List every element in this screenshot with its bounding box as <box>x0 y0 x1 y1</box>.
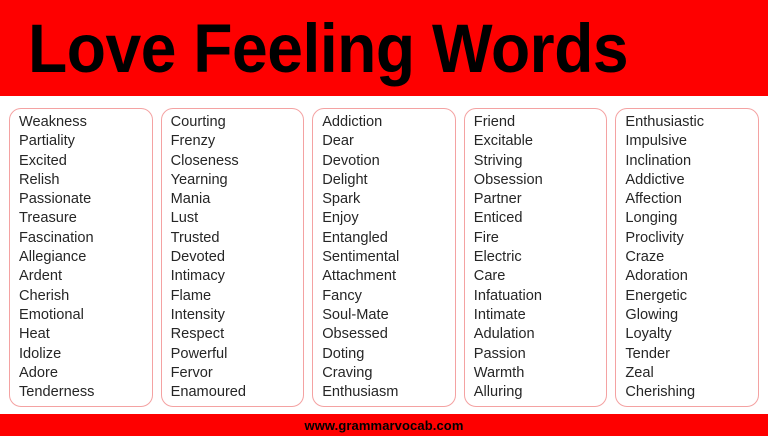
website-url[interactable]: www.grammarvocab.com <box>304 419 463 432</box>
list-item: Affection <box>625 190 758 209</box>
list-item: Fancy <box>322 287 455 306</box>
list-item: Devoted <box>171 248 304 267</box>
list-item: Energetic <box>625 287 758 306</box>
list-item: Courting <box>171 113 304 132</box>
list-item: Dear <box>322 132 455 151</box>
list-item: Passion <box>474 345 607 364</box>
list-item: Closeness <box>171 152 304 171</box>
list-item: Warmth <box>474 364 607 383</box>
list-item: Intimate <box>474 306 607 325</box>
list-item: Entangled <box>322 229 455 248</box>
list-item: Respect <box>171 325 304 344</box>
list-item: Inclination <box>625 152 758 171</box>
list-item: Glowing <box>625 306 758 325</box>
list-item: Enthusiasm <box>322 383 455 402</box>
list-item: Addiction <box>322 113 455 132</box>
list-item: Addictive <box>625 171 758 190</box>
list-item: Intimacy <box>171 267 304 286</box>
list-item: Intensity <box>171 306 304 325</box>
list-item: Striving <box>474 152 607 171</box>
list-item: Fire <box>474 229 607 248</box>
list-item: Fervor <box>171 364 304 383</box>
list-item: Tenderness <box>19 383 152 402</box>
list-item: Tender <box>625 345 758 364</box>
list-item: Treasure <box>19 209 152 228</box>
list-item: Passionate <box>19 190 152 209</box>
footer-band: www.grammarvocab.com <box>0 414 768 436</box>
list-item: Enamoured <box>171 383 304 402</box>
list-item: Devotion <box>322 152 455 171</box>
list-item: Electric <box>474 248 607 267</box>
page-title: Love Feeling Words <box>28 14 628 83</box>
list-item: Loyalty <box>625 325 758 344</box>
list-item: Enticed <box>474 209 607 228</box>
list-item: Enjoy <box>322 209 455 228</box>
word-column-5: Enthusiastic Impulsive Inclination Addic… <box>615 108 759 407</box>
list-item: Proclivity <box>625 229 758 248</box>
list-item: Longing <box>625 209 758 228</box>
list-item: Adoration <box>625 267 758 286</box>
list-item: Partiality <box>19 132 152 151</box>
list-item: Adulation <box>474 325 607 344</box>
list-item: Allegiance <box>19 248 152 267</box>
list-item: Heat <box>19 325 152 344</box>
list-item: Craze <box>625 248 758 267</box>
word-columns-area: Weakness Partiality Excited Relish Passi… <box>0 96 768 414</box>
list-item: Adore <box>19 364 152 383</box>
list-item: Delight <box>322 171 455 190</box>
word-column-1: Weakness Partiality Excited Relish Passi… <box>9 108 153 407</box>
list-item: Obsession <box>474 171 607 190</box>
list-item: Spark <box>322 190 455 209</box>
list-item: Mania <box>171 190 304 209</box>
list-item: Yearning <box>171 171 304 190</box>
list-item: Powerful <box>171 345 304 364</box>
list-item: Attachment <box>322 267 455 286</box>
list-item: Frenzy <box>171 132 304 151</box>
list-item: Cherish <box>19 287 152 306</box>
list-item: Emotional <box>19 306 152 325</box>
list-item: Doting <box>322 345 455 364</box>
list-item: Lust <box>171 209 304 228</box>
list-item: Enthusiastic <box>625 113 758 132</box>
list-item: Infatuation <box>474 287 607 306</box>
list-item: Zeal <box>625 364 758 383</box>
list-item: Ardent <box>19 267 152 286</box>
list-item: Fascination <box>19 229 152 248</box>
list-item: Excited <box>19 152 152 171</box>
list-item: Weakness <box>19 113 152 132</box>
list-item: Idolize <box>19 345 152 364</box>
list-item: Alluring <box>474 383 607 402</box>
list-item: Obsessed <box>322 325 455 344</box>
list-item: Relish <box>19 171 152 190</box>
list-item: Flame <box>171 287 304 306</box>
poster: Love Feeling Words Weakness Partiality E… <box>0 0 768 432</box>
list-item: Friend <box>474 113 607 132</box>
list-item: Soul-Mate <box>322 306 455 325</box>
list-item: Trusted <box>171 229 304 248</box>
word-column-2: Courting Frenzy Closeness Yearning Mania… <box>161 108 305 407</box>
word-column-3: Addiction Dear Devotion Delight Spark En… <box>312 108 456 407</box>
list-item: Excitable <box>474 132 607 151</box>
list-item: Sentimental <box>322 248 455 267</box>
list-item: Impulsive <box>625 132 758 151</box>
list-item: Craving <box>322 364 455 383</box>
word-column-4: Friend Excitable Striving Obsession Part… <box>464 108 608 407</box>
list-item: Partner <box>474 190 607 209</box>
list-item: Cherishing <box>625 383 758 402</box>
list-item: Care <box>474 267 607 286</box>
header-band: Love Feeling Words <box>0 0 768 96</box>
